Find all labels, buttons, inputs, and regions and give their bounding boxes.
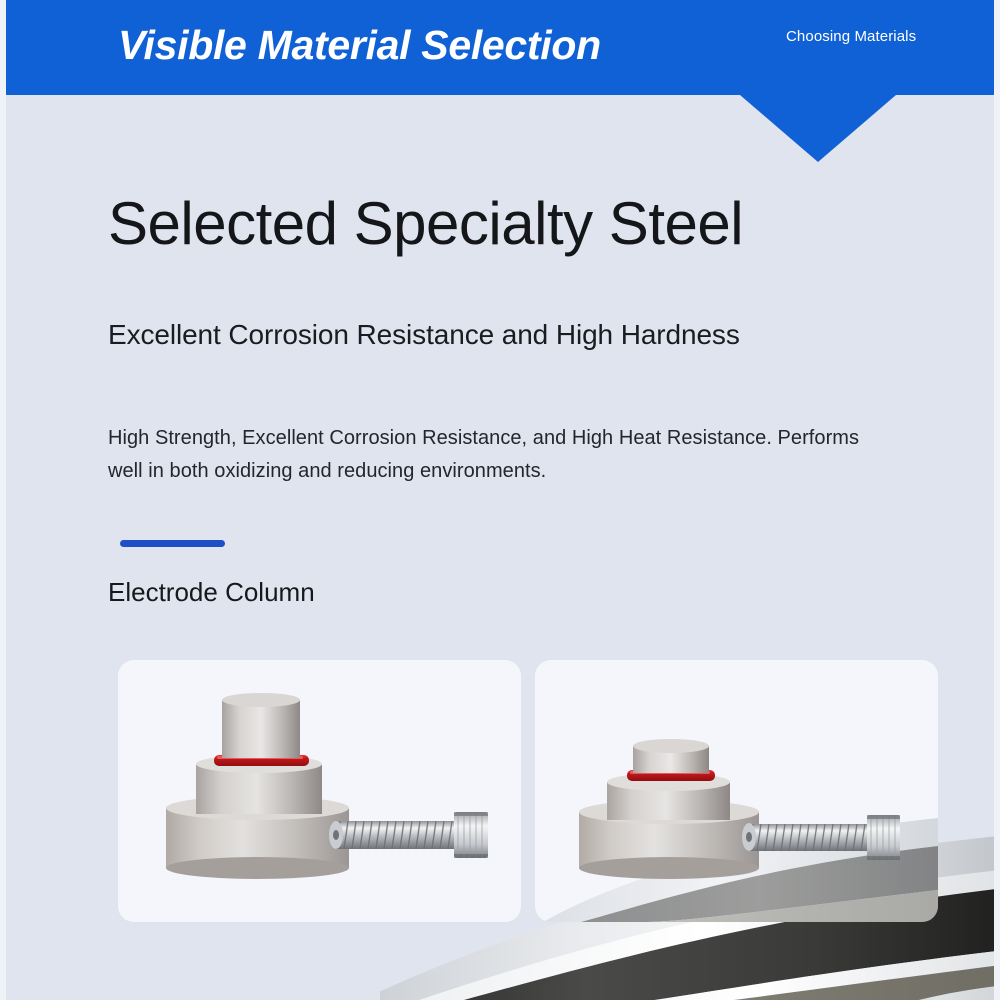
electrode-column-mounted-image bbox=[535, 660, 938, 922]
electrode-column-front-svg bbox=[118, 660, 521, 922]
left-gutter bbox=[0, 0, 6, 1000]
threaded-bolt bbox=[329, 821, 454, 849]
electrode-column-front-image bbox=[118, 660, 521, 922]
headline: Selected Specialty Steel bbox=[108, 188, 743, 260]
body-copy: High Strength, Excellent Corrosion Resis… bbox=[108, 422, 898, 488]
chevron-down-icon bbox=[740, 95, 896, 162]
electrode-top-boss bbox=[633, 739, 709, 773]
subheadline: Excellent Corrosion Resistance and High … bbox=[108, 316, 740, 354]
header-kicker: Choosing Materials bbox=[786, 28, 916, 45]
page-title: Visible Material Selection bbox=[118, 18, 601, 73]
page-header: Visible Material Selection Choosing Mate… bbox=[6, 0, 994, 95]
product-card-electrode-front[interactable] bbox=[118, 660, 521, 922]
product-card-electrode-mounted[interactable] bbox=[535, 660, 938, 922]
bolt-head bbox=[867, 815, 900, 860]
bolt-head bbox=[454, 812, 488, 858]
electrode-column-mounted-svg bbox=[535, 660, 938, 922]
accent-rule bbox=[120, 540, 225, 547]
product-page: Visible Material Selection Choosing Mate… bbox=[0, 0, 1000, 1000]
electrode-top-boss bbox=[222, 693, 300, 758]
threaded-bolt bbox=[742, 823, 867, 851]
section-label: Electrode Column bbox=[108, 574, 315, 610]
